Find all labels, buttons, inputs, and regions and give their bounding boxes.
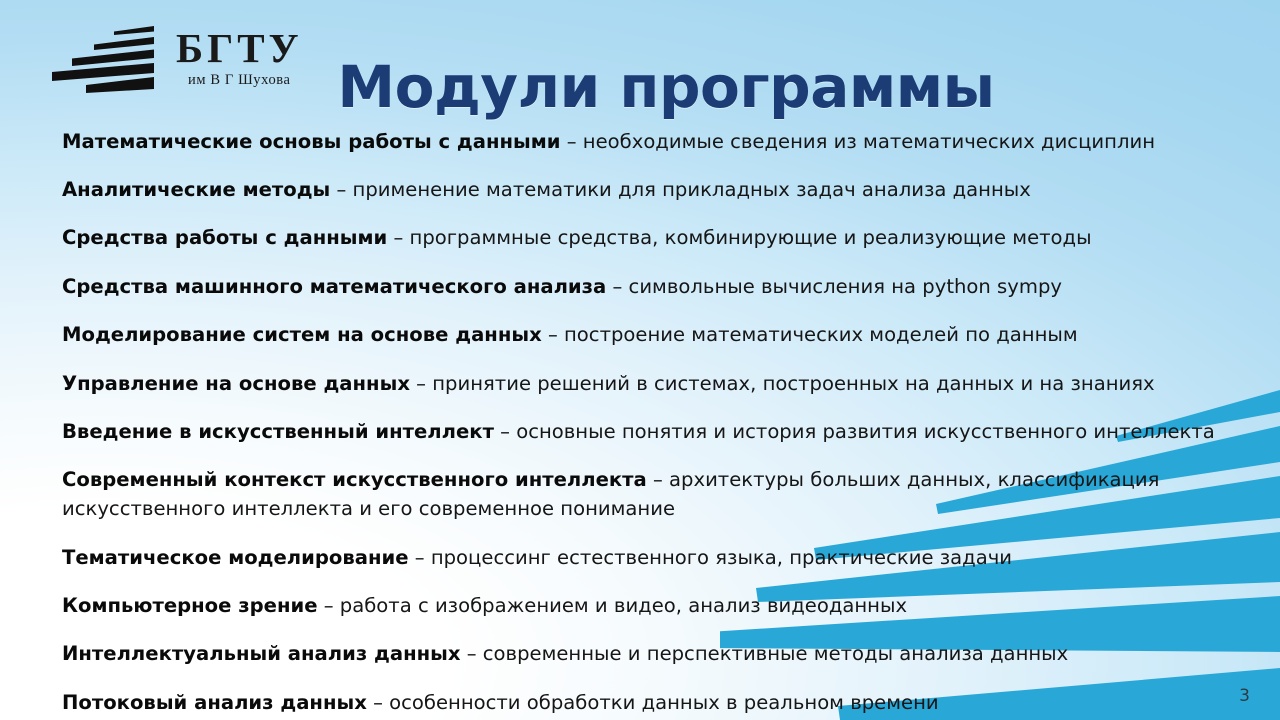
module-dash: – [561,130,583,153]
bgtu-fan-bars-icon [36,22,162,94]
module-name: Средства машинного математического анали… [62,275,606,298]
module-name: Математические основы работы с данными [62,130,561,153]
presentation-slide: БГТУ им В Г Шухова Модули программы Мате… [0,0,1280,720]
module-item: Введение в искусственный интеллект – осн… [62,418,1242,447]
module-item: Тематическое моделирование – процессинг … [62,544,1242,573]
module-description: принятие решений в системах, построенных… [432,372,1154,395]
module-item: Потоковый анализ данных – особенности об… [62,689,1242,718]
module-name: Средства работы с данными [62,226,387,249]
module-dash: – [409,546,431,569]
module-name: Компьютерное зрение [62,594,318,617]
module-name: Потоковый анализ данных [62,691,367,714]
module-dash: – [542,323,564,346]
modules-list: Математические основы работы с данными –… [62,108,1242,720]
module-description: работа с изображением и видео, анализ ви… [340,594,907,617]
module-description: современные и перспективные методы анали… [483,642,1068,665]
module-dash: – [606,275,628,298]
module-dash: – [461,642,483,665]
module-item: Современный контекст искусственного инте… [62,466,1242,524]
module-dash: – [387,226,409,249]
module-name: Аналитические методы [62,178,330,201]
page-number: 3 [1239,686,1250,706]
module-item: Математические основы работы с данными –… [62,128,1242,157]
module-description: символьные вычисления на python sympy [629,275,1062,298]
module-description: построение математических моделей по дан… [564,323,1078,346]
module-item: Управление на основе данных – принятие р… [62,370,1242,399]
module-item: Аналитические методы – применение матема… [62,176,1242,205]
module-item: Компьютерное зрение – работа с изображен… [62,592,1242,621]
module-name: Современный контекст искусственного инте… [62,468,647,491]
university-logo: БГТУ им В Г Шухова [36,22,303,94]
module-dash: – [330,178,352,201]
module-description: основные понятия и история развития иску… [516,420,1215,443]
module-item: Интеллектуальный анализ данных – совреме… [62,640,1242,669]
module-item: Средства работы с данными – программные … [62,224,1242,253]
module-item: Моделирование систем на основе данных – … [62,321,1242,350]
module-dash: – [318,594,340,617]
module-dash: – [647,468,669,491]
module-description: программные средства, комбинирующие и ре… [410,226,1092,249]
module-description: особенности обработки данных в реальном … [389,691,939,714]
module-name: Введение в искусственный интеллект [62,420,494,443]
module-item: Средства машинного математического анали… [62,273,1242,302]
module-dash: – [494,420,516,443]
module-description: применение математики для прикладных зад… [353,178,1031,201]
module-description: процессинг естественного языка, практиче… [431,546,1012,569]
module-dash: – [367,691,389,714]
module-name: Тематическое моделирование [62,546,409,569]
logo-subtitle: им В Г Шухова [188,73,291,88]
logo-acronym: БГТУ [176,28,303,69]
module-dash: – [410,372,432,395]
module-name: Моделирование систем на основе данных [62,323,542,346]
module-name: Управление на основе данных [62,372,410,395]
module-name: Интеллектуальный анализ данных [62,642,461,665]
module-description: необходимые сведения из математических д… [583,130,1155,153]
